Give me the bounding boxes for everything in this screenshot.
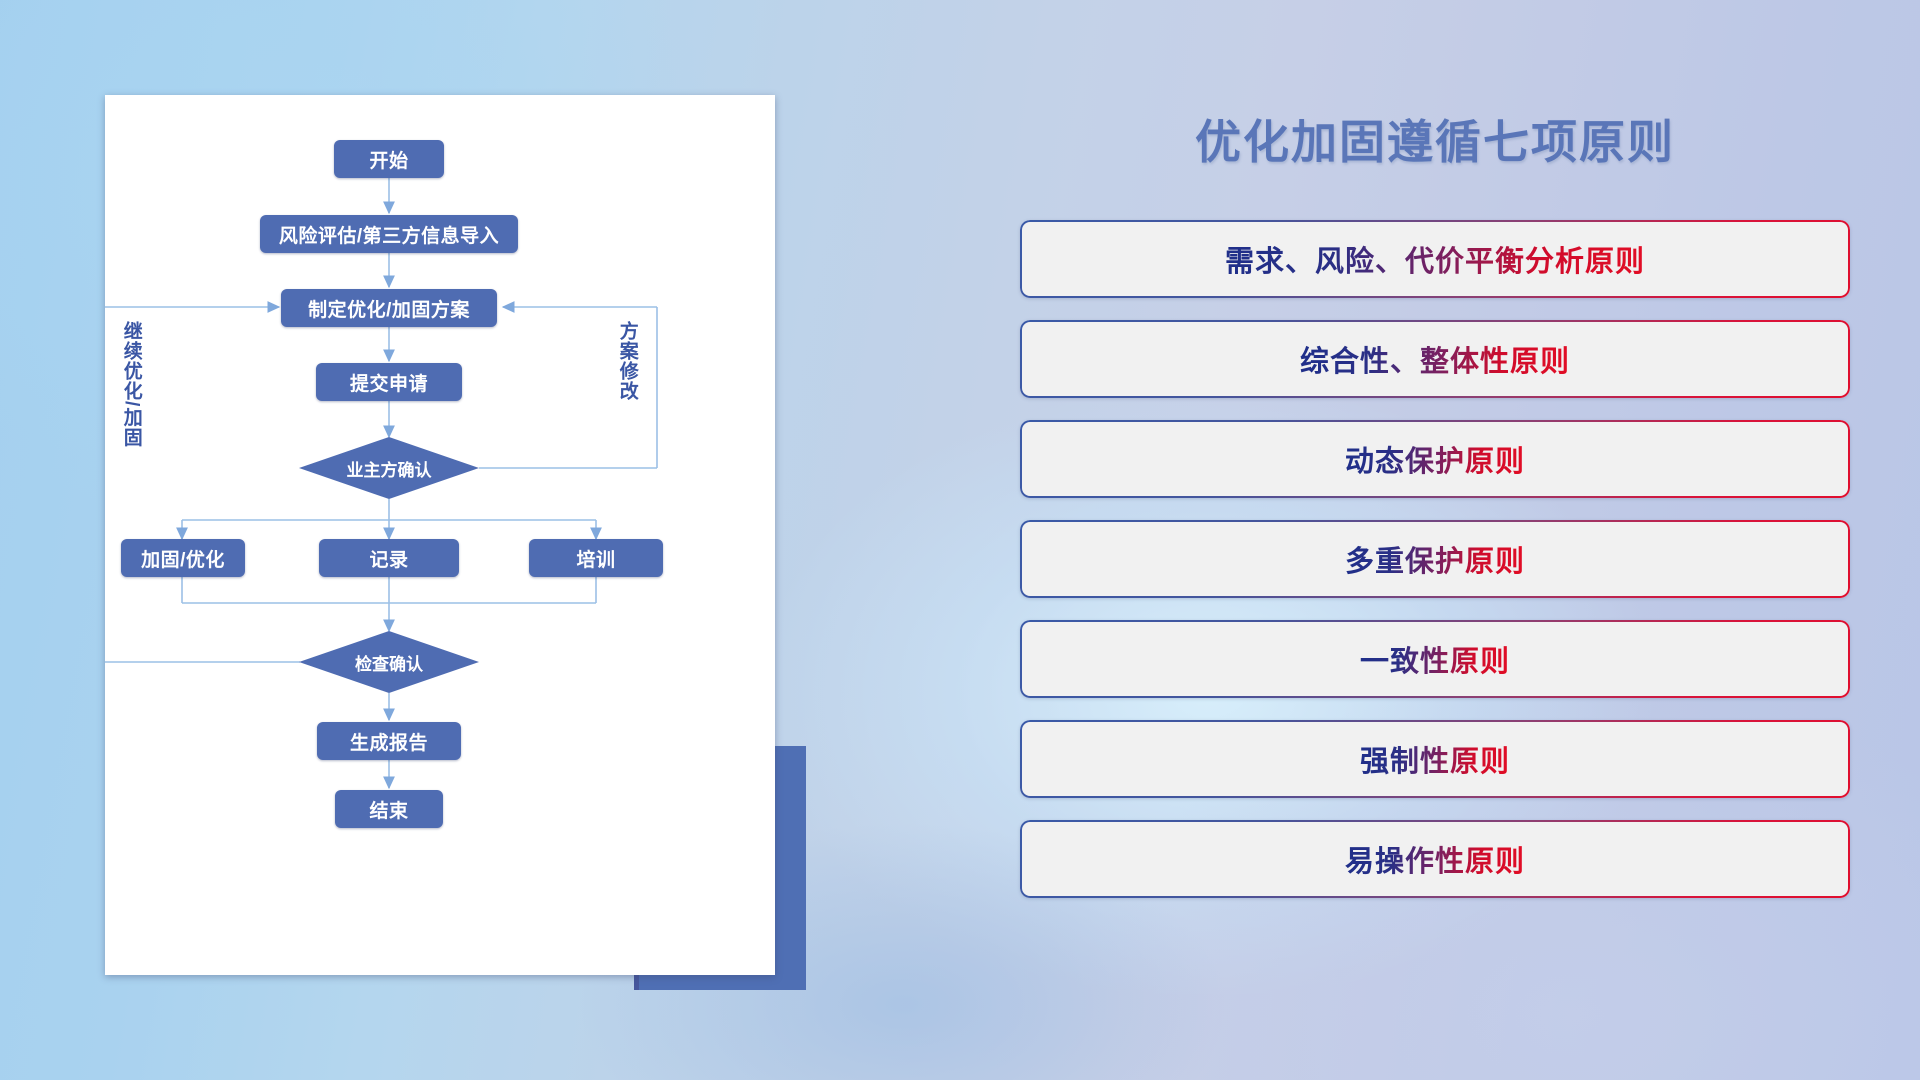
flow-node-risk-assessment-label: 风险评估/第三方信息导入 bbox=[279, 221, 499, 248]
principle-item-2[interactable]: 综合性、整体性原则 bbox=[1020, 320, 1850, 398]
principle-label: 需求、风险、代价平衡分析原则 bbox=[1225, 238, 1645, 280]
principle-item-1[interactable]: 需求、风险、代价平衡分析原则 bbox=[1020, 220, 1850, 298]
flow-node-end-label: 结束 bbox=[369, 796, 408, 823]
flow-node-end[interactable]: 结束 bbox=[335, 790, 443, 828]
principle-label: 动态保护原则 bbox=[1345, 438, 1525, 480]
flow-node-owner-confirm[interactable]: 业主方确认 bbox=[299, 437, 479, 499]
flow-node-risk-assessment[interactable]: 风险评估/第三方信息导入 bbox=[260, 215, 518, 253]
flow-node-generate-report-label: 生成报告 bbox=[350, 728, 428, 755]
flow-node-owner-confirm-label: 业主方确认 bbox=[347, 456, 432, 481]
flow-node-inspection-confirm[interactable]: 检查确认 bbox=[299, 631, 479, 693]
principle-list: 需求、风险、代价平衡分析原则 综合性、整体性原则 动态保护原则 多重保护原则 一… bbox=[1020, 220, 1850, 898]
flow-node-inspection-confirm-label: 检查确认 bbox=[355, 650, 423, 675]
flow-node-reinforce-optimize-label: 加固/优化 bbox=[141, 545, 225, 572]
principle-item-7[interactable]: 易操作性原则 bbox=[1020, 820, 1850, 898]
flow-node-submit-application-label: 提交申请 bbox=[350, 369, 428, 396]
flow-node-training[interactable]: 培训 bbox=[529, 539, 663, 577]
flow-edge-label-continue-optimize: 继续优化/加固 bbox=[121, 321, 141, 447]
flow-node-reinforce-optimize[interactable]: 加固/优化 bbox=[121, 539, 245, 577]
principle-item-4[interactable]: 多重保护原则 bbox=[1020, 520, 1850, 598]
flow-node-record-label: 记录 bbox=[369, 545, 408, 572]
principle-item-5[interactable]: 一致性原则 bbox=[1020, 620, 1850, 698]
flow-edge-label-plan-revision: 方案修改 bbox=[617, 321, 637, 401]
flow-node-record[interactable]: 记录 bbox=[319, 539, 459, 577]
principles-panel: 优化加固遵循七项原则 需求、风险、代价平衡分析原则 综合性、整体性原则 动态保护… bbox=[1020, 80, 1850, 1020]
flow-node-training-label: 培训 bbox=[576, 545, 615, 572]
principle-label: 多重保护原则 bbox=[1345, 538, 1525, 580]
principle-item-3[interactable]: 动态保护原则 bbox=[1020, 420, 1850, 498]
flowchart-card: 开始 风险评估/第三方信息导入 制定优化/加固方案 提交申请 业主方确认 加固/… bbox=[105, 95, 775, 975]
principle-item-6[interactable]: 强制性原则 bbox=[1020, 720, 1850, 798]
principle-label: 易操作性原则 bbox=[1345, 838, 1525, 880]
flow-node-submit-application[interactable]: 提交申请 bbox=[316, 363, 462, 401]
page-title: 优化加固遵循七项原则 bbox=[1020, 106, 1850, 172]
flow-node-start[interactable]: 开始 bbox=[334, 140, 444, 178]
flow-node-make-plan[interactable]: 制定优化/加固方案 bbox=[281, 289, 497, 327]
principle-label: 综合性、整体性原则 bbox=[1300, 338, 1570, 380]
flowchart: 开始 风险评估/第三方信息导入 制定优化/加固方案 提交申请 业主方确认 加固/… bbox=[105, 95, 775, 975]
principle-label: 强制性原则 bbox=[1360, 738, 1510, 780]
flow-node-make-plan-label: 制定优化/加固方案 bbox=[308, 295, 470, 322]
flow-node-start-label: 开始 bbox=[369, 146, 408, 173]
principle-label: 一致性原则 bbox=[1360, 638, 1510, 680]
flow-node-generate-report[interactable]: 生成报告 bbox=[317, 722, 461, 760]
